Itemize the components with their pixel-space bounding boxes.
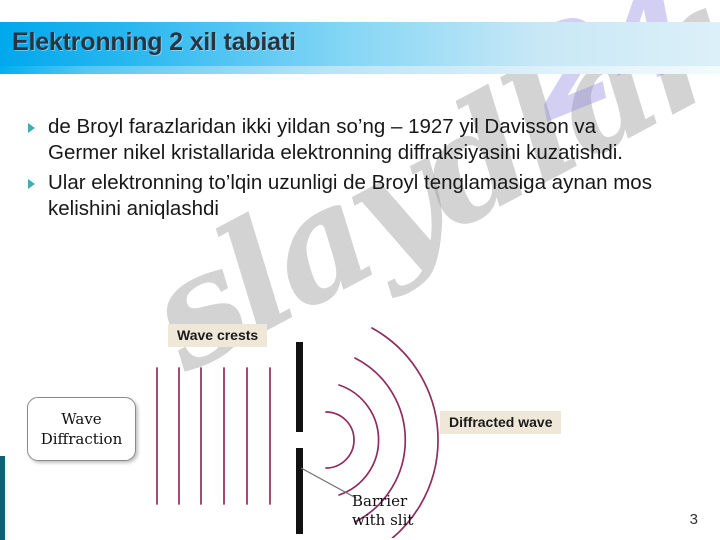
barrier-note-line-2: with slit	[352, 511, 413, 530]
label-wave-crests: Wave crests	[168, 324, 267, 347]
barrier-note-line-1: Barrier	[352, 492, 413, 511]
callout-line-1: Wave	[61, 409, 101, 429]
wave-diffraction-callout: Wave Diffraction	[27, 397, 136, 461]
bullet-list: de Broyl farazlaridan ikki yildan so’ng …	[28, 114, 658, 226]
title-underband	[0, 66, 720, 74]
bullet-text: Ular elektronning to’lqin uzunligi de Br…	[48, 170, 658, 222]
bullet-marker-wrap	[28, 170, 48, 189]
bullet-text: de Broyl farazlaridan ikki yildan so’ng …	[48, 114, 658, 166]
list-item: Ular elektronning to’lqin uzunligi de Br…	[28, 170, 658, 222]
barrier-leader-line	[301, 468, 356, 498]
triangle-bullet-icon	[28, 179, 35, 189]
list-item: de Broyl farazlaridan ikki yildan so’ng …	[28, 114, 658, 166]
slide-canvas: slaydlar 24 Elektronning 2 xil tabiati d…	[0, 0, 720, 540]
label-barrier-with-slit: Barrier with slit	[352, 492, 413, 530]
bullet-marker-wrap	[28, 114, 48, 133]
barrier-with-slit	[296, 342, 303, 534]
triangle-bullet-icon	[28, 123, 35, 133]
page-title: Elektronning 2 xil tabiati	[12, 28, 296, 57]
callout-line-2: Diffraction	[41, 429, 123, 449]
left-accent-bar	[0, 456, 5, 540]
wave-crest-lines	[157, 368, 270, 504]
page-number: 3	[690, 511, 698, 528]
label-diffracted-wave: Diffracted wave	[440, 411, 561, 434]
